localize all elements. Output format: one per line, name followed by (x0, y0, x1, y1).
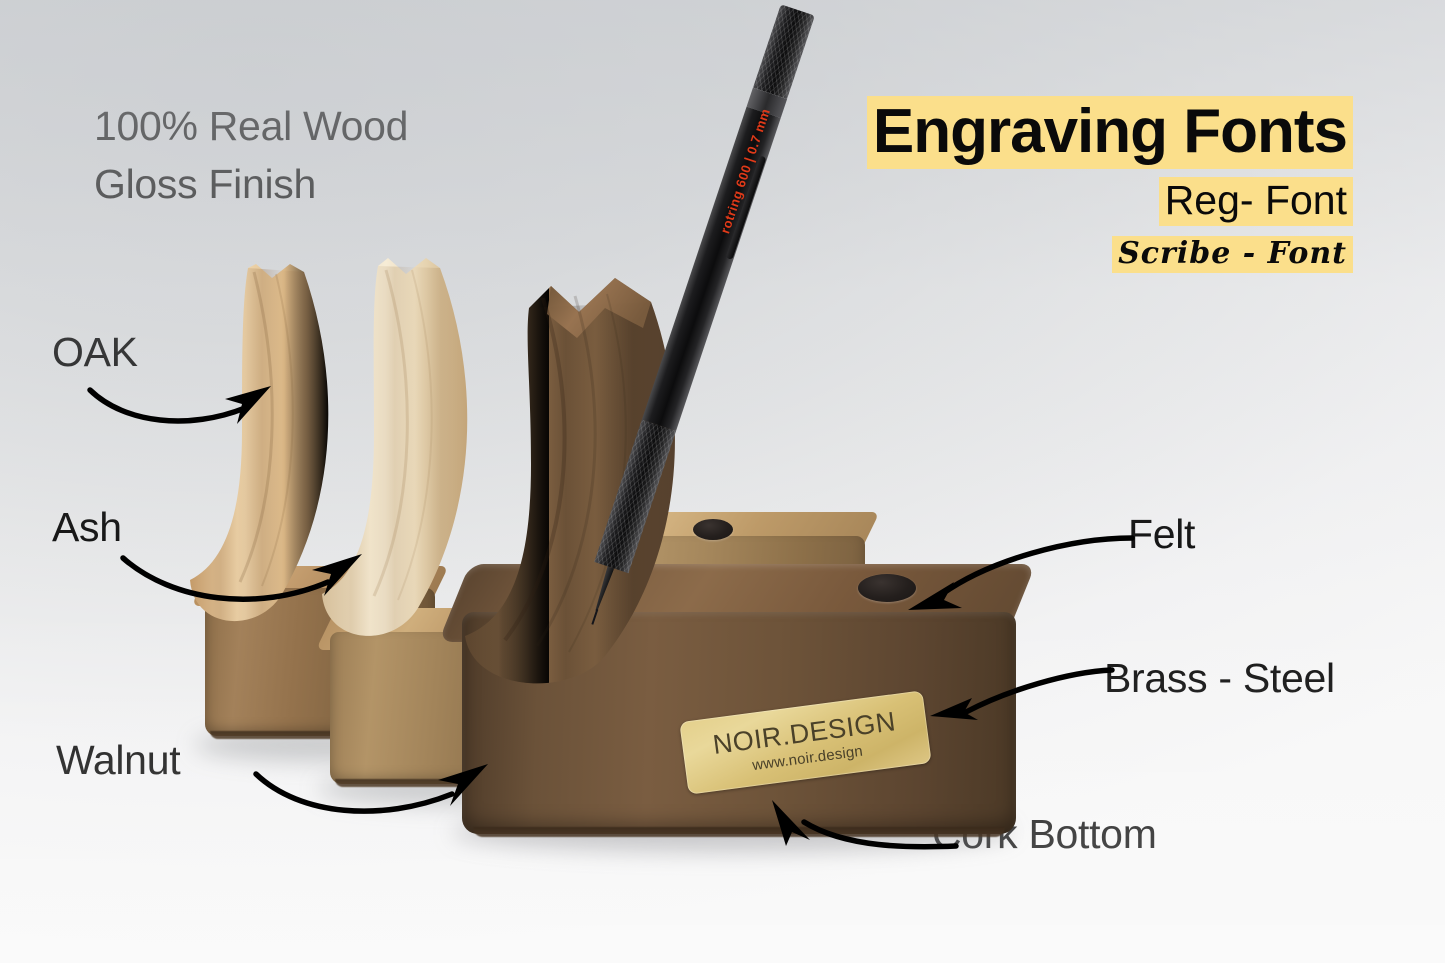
engraving-fonts-title-row: Engraving Fonts (867, 96, 1353, 169)
curved-arm-walnut (455, 268, 775, 688)
callout-arrow-oak (85, 368, 295, 438)
engraving-fonts-title: Engraving Fonts (867, 96, 1353, 169)
engraving-font-script: Scribe - Font (1112, 236, 1353, 273)
callout-arrow-felt (900, 512, 1140, 612)
engraving-font-regular: Reg- Font (1159, 177, 1353, 226)
engraving-font-script-row: Scribe - Font (867, 226, 1353, 273)
callout-arrow-brass-steel (928, 662, 1118, 728)
engraving-font-regular-row: Reg- Font (867, 169, 1353, 226)
callout-arrow-ash (118, 540, 388, 620)
callout-arrow-walnut (252, 760, 512, 830)
pencil-lead (591, 609, 598, 625)
pencil-cap-knurl (753, 4, 815, 99)
pencil-tip-cone (593, 566, 614, 612)
product-photo-scene: NOIR.DESIGN www.noir.design rotring 600 … (0, 0, 1445, 963)
engraving-fonts-block: Engraving Fonts Reg- Font Scribe - Font (867, 96, 1353, 273)
callout-arrow-cork-bottom (760, 792, 960, 864)
